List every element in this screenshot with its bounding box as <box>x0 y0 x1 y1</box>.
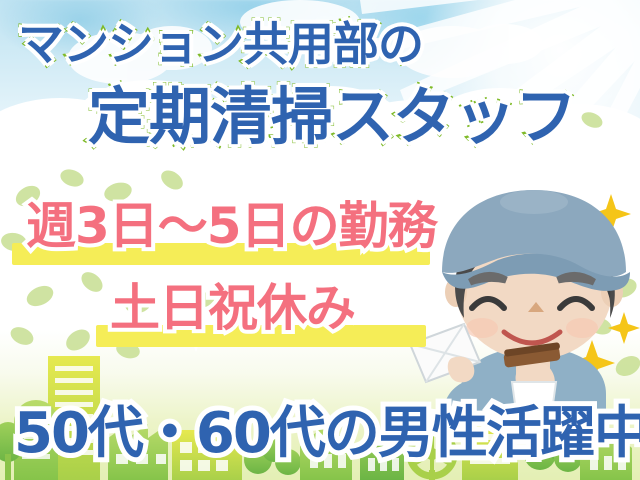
headline-line-2: 定期清掃スタッフ <box>88 82 576 152</box>
condition-line-1: 週3日〜5日の勤務 <box>26 198 437 254</box>
headline-line-1: マンション共用部の <box>18 18 423 70</box>
job-ad-poster: マンション共用部の 定期清掃スタッフ 週3日〜5日の勤務 土日祝休み 50代・6… <box>0 0 640 480</box>
cleaning-staff-illustration <box>408 186 640 426</box>
condition-line-2: 土日祝休み <box>110 280 355 336</box>
footer-line: 50代・60代の男性活躍中! <box>14 402 640 466</box>
